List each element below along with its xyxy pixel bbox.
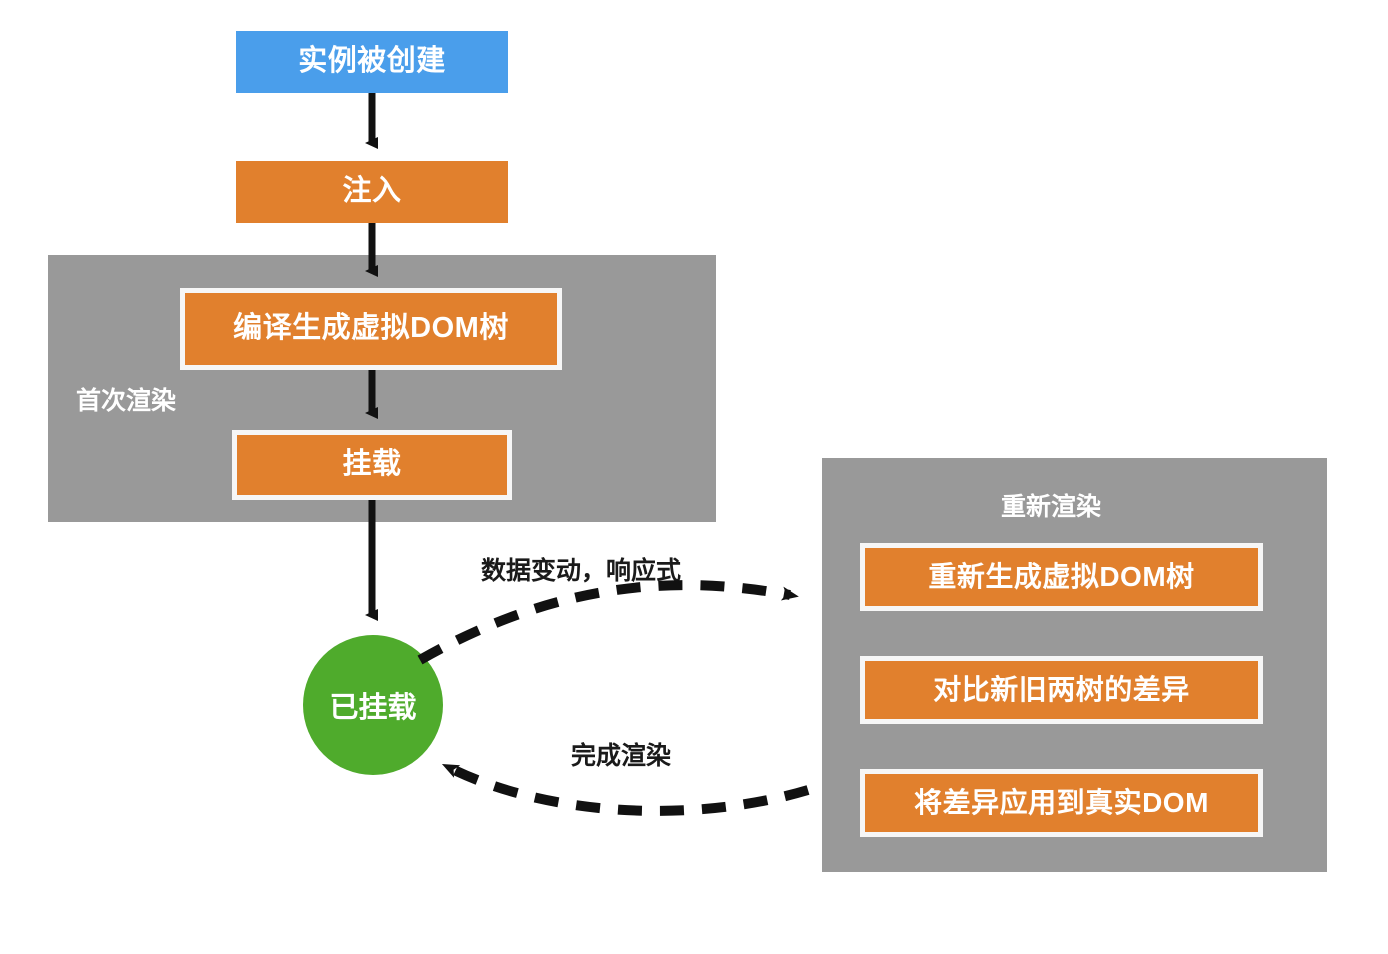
node-mount-label: 挂载 [342, 449, 401, 481]
node-inject-label: 注入 [342, 176, 401, 208]
group-first-render-label: 首次渲染 [76, 381, 176, 417]
edge-label-render-done: 完成渲染 [571, 736, 671, 772]
node-diff-trees-label: 对比新旧两树的差异 [933, 675, 1190, 706]
node-mounted-label: 已挂载 [329, 684, 416, 726]
node-diff-trees[interactable]: 对比新旧两树的差异 [860, 656, 1263, 724]
diagram-canvas: 实例被创建 注入 首次渲染 编译生成虚拟DOM树 挂载 已挂载 重新渲染 重新生… [0, 0, 1388, 954]
node-inject[interactable]: 注入 [236, 161, 508, 223]
group-re-render-label: 重新渲染 [1001, 487, 1101, 523]
node-regen-vdom[interactable]: 重新生成虚拟DOM树 [860, 543, 1263, 611]
node-compile-vdom[interactable]: 编译生成虚拟DOM树 [180, 288, 562, 370]
node-mount[interactable]: 挂载 [232, 430, 512, 500]
node-instance-created-label: 实例被创建 [298, 46, 446, 78]
arrow-rerender-to-mounted [450, 768, 808, 811]
edge-label-data-change: 数据变动，响应式 [481, 551, 681, 587]
arrow-mounted-to-rerender [420, 585, 790, 660]
node-patch-dom[interactable]: 将差异应用到真实DOM [860, 769, 1263, 837]
node-patch-dom-label: 将差异应用到真实DOM [914, 788, 1209, 819]
node-instance-created[interactable]: 实例被创建 [236, 31, 508, 93]
node-compile-vdom-label: 编译生成虚拟DOM树 [233, 313, 509, 345]
node-regen-vdom-label: 重新生成虚拟DOM树 [928, 562, 1194, 593]
node-mounted[interactable]: 已挂载 [303, 635, 443, 775]
